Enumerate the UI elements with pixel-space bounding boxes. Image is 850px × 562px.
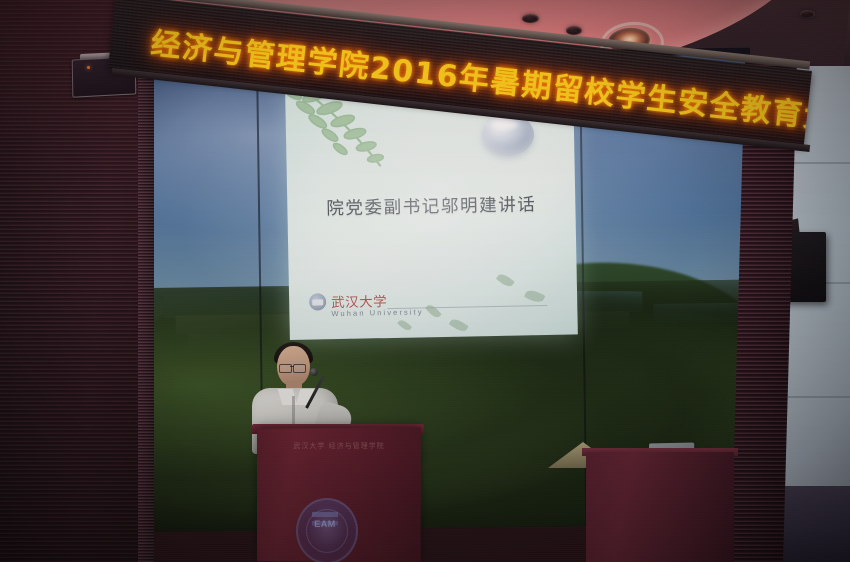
av-control-table bbox=[586, 452, 734, 562]
leaf-petal-icon bbox=[397, 318, 412, 332]
logo-divider bbox=[387, 305, 547, 309]
leaf-petal-icon bbox=[449, 317, 469, 334]
leaf-petal-icon bbox=[524, 288, 545, 305]
conference-photo-scene: 院党委副书记邬明建讲话 武汉大学 Wuhan University 经济与管理学… bbox=[0, 0, 850, 562]
leaf-petal-icon bbox=[425, 303, 442, 320]
glasses-icon bbox=[293, 364, 306, 373]
recessed-downlight bbox=[522, 14, 539, 23]
podium-front-text: 武汉大学 经济与管理学院 bbox=[268, 441, 410, 451]
university-seal-icon bbox=[309, 293, 326, 310]
left-wall-edge bbox=[138, 0, 154, 562]
leaf-petal-icon bbox=[496, 272, 515, 289]
glasses-bridge bbox=[290, 366, 294, 367]
recessed-downlight bbox=[800, 10, 815, 18]
university-name-english: Wuhan University bbox=[331, 307, 423, 318]
microphone-icon bbox=[310, 368, 318, 376]
emblem-letters: EAM bbox=[310, 519, 340, 529]
recessed-downlight bbox=[566, 26, 582, 35]
slide-title: 院党委副书记邬明建讲话 bbox=[287, 190, 575, 221]
speaker-indicator-led bbox=[87, 66, 90, 69]
